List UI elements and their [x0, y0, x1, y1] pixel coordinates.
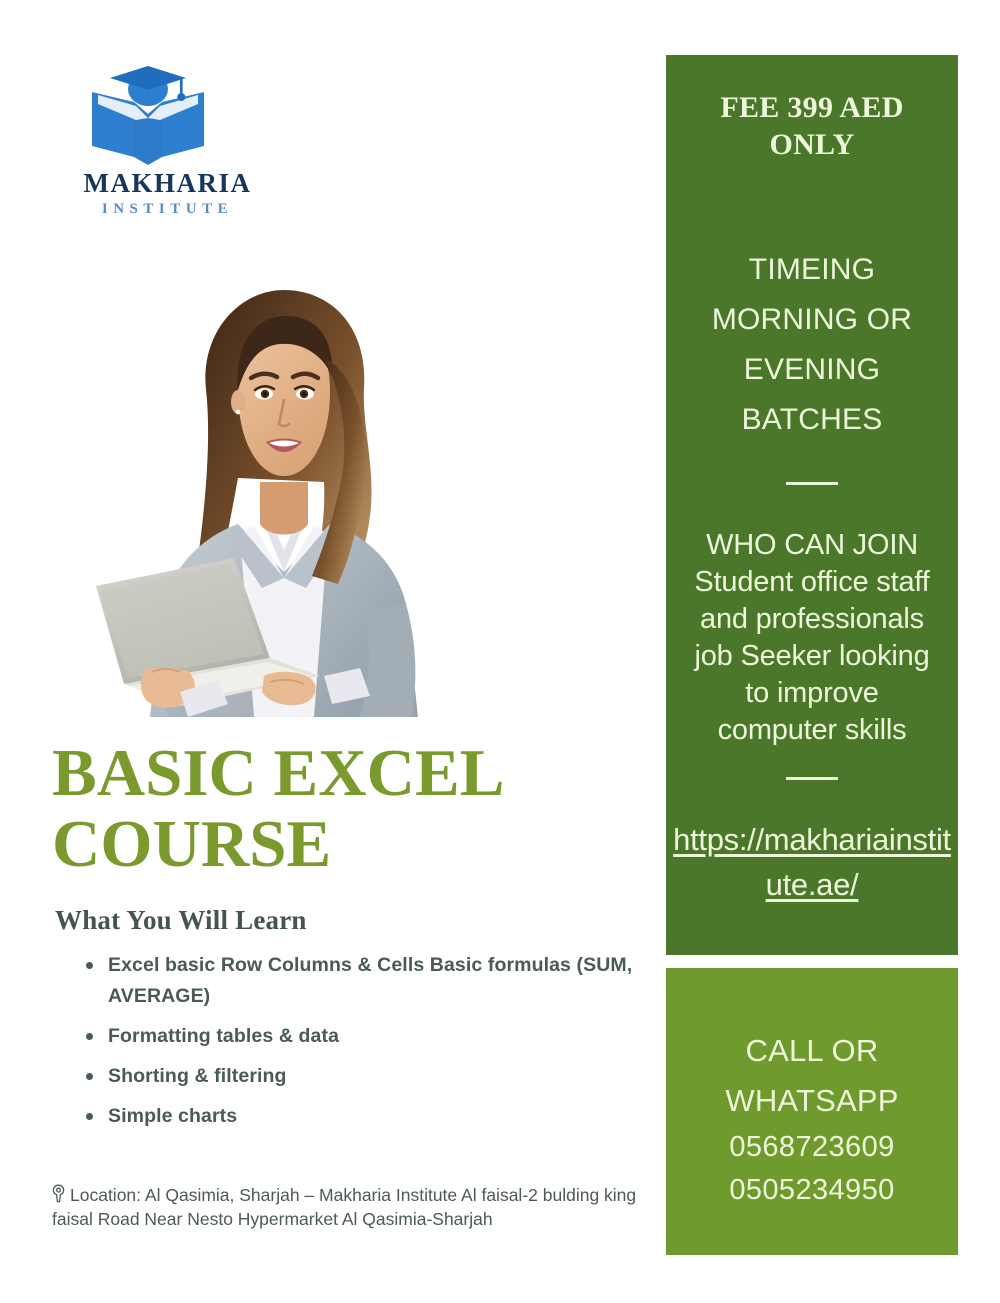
- timing-block: TIMEING MORNING OR EVENING BATCHES: [666, 245, 958, 445]
- who-line-5: to improve: [666, 675, 958, 712]
- who-line-6: computer skills: [666, 712, 958, 749]
- divider-1: [786, 482, 838, 485]
- page-title: BASIC EXCEL COURSE: [52, 738, 652, 880]
- list-item: Simple charts: [108, 1101, 688, 1132]
- learn-heading: What You Will Learn: [55, 905, 307, 936]
- info-panel: FEE 399 AED ONLY TIMEING MORNING OR EVEN…: [666, 55, 958, 955]
- map-pin-icon: [52, 1184, 65, 1203]
- brand-subtitle: INSTITUTE: [60, 202, 275, 217]
- fee-line-2: ONLY: [666, 126, 958, 163]
- who-line-3: and professionals: [666, 601, 958, 638]
- timing-line-2: MORNING OR: [666, 295, 958, 345]
- title-line-2: COURSE: [52, 809, 652, 880]
- fee-line-1: FEE 399 AED: [666, 89, 958, 126]
- list-item: Shorting & filtering: [108, 1061, 688, 1092]
- who-line-2: Student office staff: [666, 564, 958, 601]
- timing-line-1: TIMEING: [666, 245, 958, 295]
- contact-panel: CALL OR WHATSAPP 0568723609 0505234950: [666, 968, 958, 1255]
- brand-name: MAKHARIA: [60, 170, 275, 197]
- divider-2: [786, 777, 838, 780]
- fee-block: FEE 399 AED ONLY: [666, 89, 958, 163]
- learn-list: Excel basic Row Columns & Cells Basic fo…: [80, 950, 688, 1141]
- hero-photo: [88, 272, 478, 717]
- who-line-1: WHO CAN JOIN: [666, 527, 958, 564]
- phone-numbers: 0568723609 0505234950: [666, 1126, 958, 1212]
- phone-number-2[interactable]: 0505234950: [666, 1169, 958, 1212]
- call-heading: CALL OR WHATSAPP: [666, 1026, 958, 1126]
- phone-number-1[interactable]: 0568723609: [666, 1126, 958, 1169]
- timing-line-3: EVENING: [666, 345, 958, 395]
- graduation-cap-book-icon: [88, 62, 208, 167]
- call-line-1: CALL OR: [666, 1026, 958, 1076]
- timing-line-4: BATCHES: [666, 395, 958, 445]
- brand-logo: MAKHARIA INSTITUTE: [60, 62, 290, 222]
- location-footer: Location: Al Qasimia, Sharjah – Makharia…: [52, 1183, 652, 1231]
- who-line-4: job Seeker looking: [666, 638, 958, 675]
- flyer-page: MAKHARIA INSTITUTE: [0, 0, 1000, 1303]
- title-line-1: BASIC EXCEL: [52, 738, 652, 809]
- location-text: Location: Al Qasimia, Sharjah – Makharia…: [52, 1185, 636, 1229]
- website-link[interactable]: https://makhariainstitute.ae/: [666, 817, 958, 907]
- list-item: Excel basic Row Columns & Cells Basic fo…: [108, 950, 688, 1012]
- call-line-2: WHATSAPP: [666, 1076, 958, 1126]
- list-item: Formatting tables & data: [108, 1021, 688, 1052]
- who-can-join-block: WHO CAN JOIN Student office staff and pr…: [666, 527, 958, 749]
